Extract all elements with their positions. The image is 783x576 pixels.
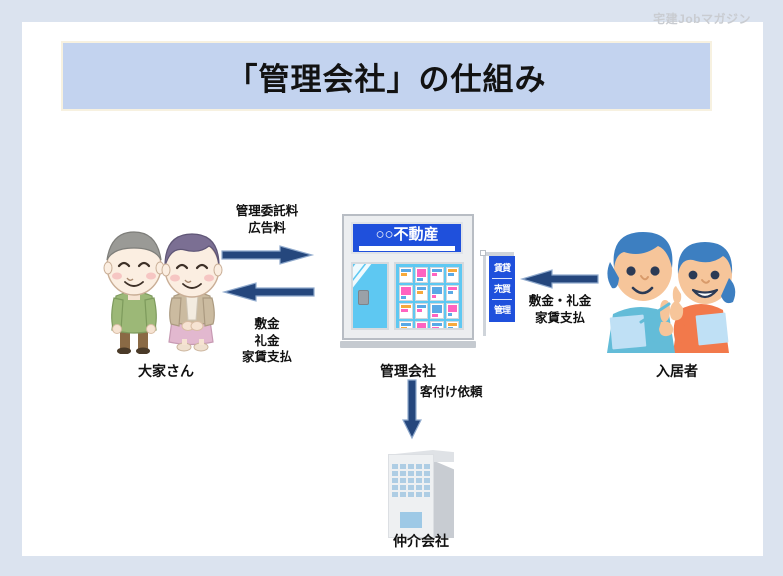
listing-card (415, 267, 429, 283)
shop-base (340, 341, 476, 348)
banner-flag: 賃貸 売買 管理 (489, 256, 515, 322)
listing-card (430, 285, 444, 301)
broker-company-illustration (380, 450, 462, 542)
tenant-to-management-label-line1: 敷金・礼金 (514, 293, 606, 310)
tenant-to-management-label: 敷金・礼金 家賃支払 (514, 293, 606, 326)
listing-card (415, 303, 429, 319)
listing-card (399, 267, 413, 283)
banner-item-sale: 売買 (494, 284, 510, 295)
owner-to-management-label: 管理委託料 広告料 (220, 203, 314, 236)
shop-sign-bar (359, 246, 455, 251)
listing-card (430, 321, 444, 330)
slide-canvas: 宅建Jobマガジン 「管理会社」の仕組み (22, 22, 763, 556)
management-to-owner-label-line1: 敷金 (220, 316, 314, 333)
listing-card (446, 321, 460, 330)
shop-sign: ○○不動産 (351, 222, 463, 254)
listing-card (430, 303, 444, 319)
building-entrance (400, 512, 422, 528)
listing-card (415, 285, 429, 301)
owner-to-management-label-line2: 広告料 (220, 220, 314, 237)
banner-pole (483, 250, 486, 336)
listing-card-grid (399, 267, 459, 325)
building-side (432, 460, 454, 538)
owner-to-management-label-line1: 管理委託料 (220, 203, 314, 220)
shop-door (351, 262, 389, 330)
management-caption: 管理会社 (342, 361, 474, 381)
listing-card (446, 303, 460, 319)
owner-illustration (100, 208, 232, 354)
banner-divider (492, 278, 512, 279)
management-company-illustration: ○○不動産 (342, 214, 474, 344)
management-to-owner-arrow (222, 283, 314, 301)
shop-banner-sign: 賃貸 売買 管理 (480, 250, 518, 336)
listing-card (399, 321, 413, 330)
owner-to-management-arrow (222, 246, 314, 264)
door-handle-icon (358, 290, 369, 305)
listing-card (399, 285, 413, 301)
building-windows (392, 464, 430, 497)
shop-window (394, 262, 464, 330)
management-to-owner-label: 敷金 礼金 家賃支払 (220, 316, 314, 366)
tenant-to-management-arrow (520, 270, 598, 288)
banner-item-management: 管理 (494, 305, 510, 316)
listing-card (446, 267, 460, 283)
listing-card (446, 285, 460, 301)
page-title: 「管理会社」の仕組み (227, 54, 547, 99)
management-to-owner-label-line2: 礼金 (220, 333, 314, 350)
listing-card (415, 321, 429, 330)
banner-knob (480, 250, 486, 256)
listing-card (399, 303, 413, 319)
banner-divider (492, 299, 512, 300)
tenant-to-management-label-line2: 家賃支払 (514, 310, 606, 327)
watermark-label: 宅建Jobマガジン (653, 10, 751, 27)
management-to-owner-label-line3: 家賃支払 (220, 349, 314, 366)
management-to-broker-label: 客付け依頼 (420, 384, 520, 401)
tenant-illustration (605, 218, 747, 353)
owner-caption: 大家さん (100, 361, 232, 381)
shop-sign-text: ○○不動産 (375, 224, 438, 245)
banner-item-rent: 賃貸 (494, 263, 510, 274)
tenant-caption: 入居者 (607, 361, 747, 381)
listing-card (430, 267, 444, 283)
management-to-broker-arrow (403, 380, 421, 440)
broker-caption: 仲介会社 (361, 531, 481, 551)
title-banner: 「管理会社」の仕組み (61, 41, 712, 111)
